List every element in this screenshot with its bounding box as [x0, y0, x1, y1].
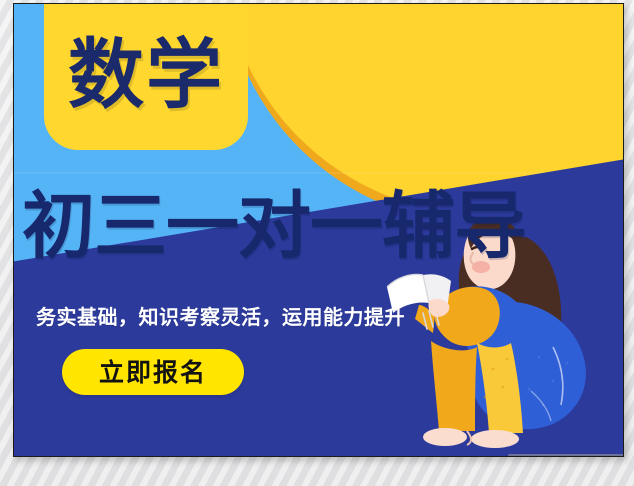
- course-promo-banner[interactable]: 数学 初三一对一辅导 务实基础，知识考察灵活，运用能力提升 立即报名: [13, 3, 624, 457]
- banner-headline: 初三一对一辅导: [22, 190, 622, 263]
- subject-chip-label: 数学: [68, 27, 224, 113]
- enroll-now-button[interactable]: 立即报名: [62, 349, 244, 395]
- banner-subtitle: 务实基础，知识考察灵活，运用能力提升: [36, 301, 405, 330]
- site-watermark: 培训帮网: [508, 454, 623, 456]
- enroll-now-button-label: 立即报名: [99, 360, 207, 385]
- page-background: 数学 初三一对一辅导 务实基础，知识考察灵活，运用能力提升 立即报名: [0, 0, 634, 486]
- subject-chip: 数学: [44, 4, 248, 150]
- banner-artwork: 数学 初三一对一辅导 务实基础，知识考察灵活，运用能力提升 立即报名: [14, 4, 623, 456]
